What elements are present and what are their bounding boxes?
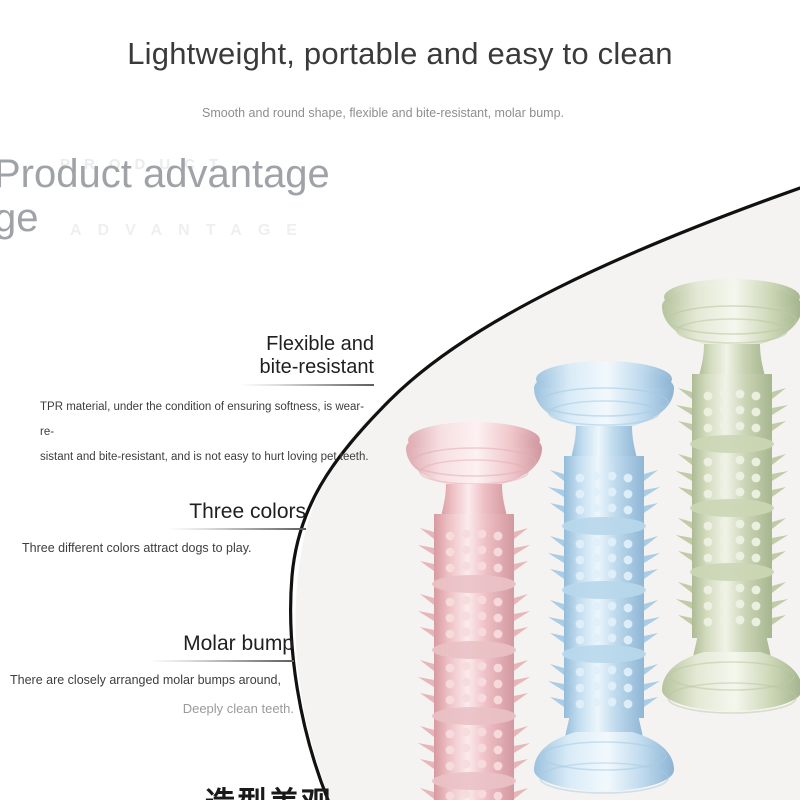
pink-top-cap [406, 422, 542, 522]
green-shaft [676, 374, 788, 638]
blue-shaft [548, 456, 660, 718]
green-bottom-cap [662, 634, 800, 713]
pink-shaft [418, 514, 530, 800]
page-title: Lightweight, portable and easy to clean [0, 36, 800, 72]
panel-outline-stroke [291, 188, 800, 800]
feature-body-molar-bump: There are closely arranged molar bumps a… [10, 671, 294, 689]
section-heading-product-advantage: Product advantage ge [0, 152, 414, 240]
blue-bottom-cap [534, 714, 674, 793]
feature-title-flexible: Flexible and bite-resistant [40, 333, 374, 379]
feature-title-molar-bump: Molar bump [10, 632, 294, 655]
green-top-cap [662, 279, 800, 382]
feature-block-three-colors: Three colors Three different colors attr… [22, 500, 306, 557]
feature-rule-three-colors [168, 528, 306, 530]
page-subtitle: Smooth and round shape, flexible and bit… [202, 105, 582, 122]
panel-fill-shape [295, 188, 800, 800]
feature-block-flexible-bite-resistant: Flexible and bite-resistant TPR material… [40, 333, 374, 470]
feature-body-flexible: TPR material, under the condition of ens… [40, 395, 374, 470]
product-image-blue [512, 358, 697, 800]
feature-body-three-colors: Three different colors attract dogs to p… [22, 539, 306, 557]
bottom-headline-cjk: 造型美观 [205, 778, 333, 800]
feature-body-molar-bump-second: Deeply clean teeth. [10, 701, 294, 716]
product-detail-page: Lightweight, portable and easy to clean … [0, 0, 800, 800]
feature-title-three-colors: Three colors [22, 500, 306, 523]
blue-top-cap [534, 361, 674, 464]
product-image-pink [384, 418, 564, 800]
feature-rule-flexible [240, 384, 374, 386]
product-image-green [642, 278, 800, 720]
feature-rule-molar-bump [148, 660, 294, 662]
feature-block-molar-bump: Molar bump There are closely arranged mo… [10, 632, 294, 716]
